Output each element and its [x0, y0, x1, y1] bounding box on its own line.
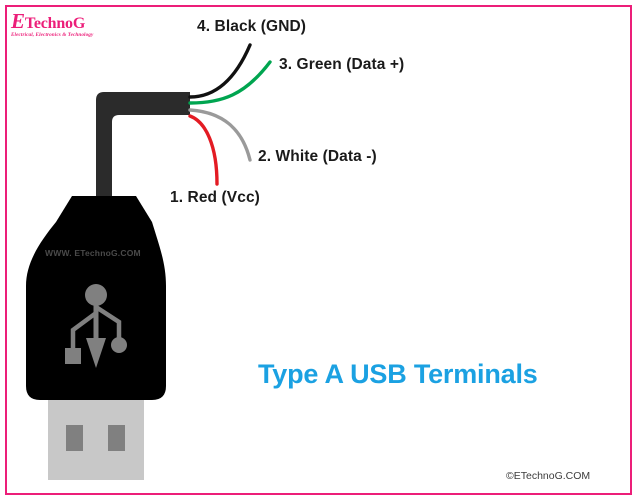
usb-shell-contact-left — [66, 425, 83, 451]
wire-red-vcc — [190, 116, 217, 184]
watermark-text: WWW. ETechnoG.COM — [45, 248, 141, 258]
usb-metal-shell — [48, 400, 144, 480]
copyright-text: ©ETechnoG.COM — [506, 470, 590, 482]
wire-white-data-minus — [190, 110, 250, 160]
cable-strain-relief — [56, 196, 152, 222]
wire-label-green: 3. Green (Data +) — [279, 56, 404, 74]
usb-shell-contact-right — [108, 425, 125, 451]
usb-symbol-circle-terminal — [111, 337, 127, 353]
wire-label-red: 1. Red (Vcc) — [170, 189, 260, 207]
usb-pinout-diagram: ETechnoG Electrical, Electronics & Techn… — [0, 0, 639, 502]
wire-label-white: 2. White (Data -) — [258, 148, 377, 166]
usb-symbol-square-terminal — [65, 348, 81, 364]
figure-title: Type A USB Terminals — [258, 359, 538, 390]
wire-label-black: 4. Black (GND) — [197, 18, 306, 36]
cable-sheath — [96, 92, 190, 196]
